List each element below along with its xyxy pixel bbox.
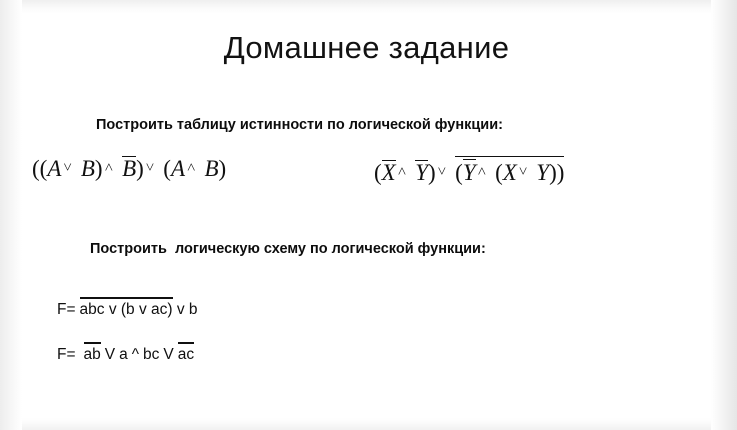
operator-and: ˄ (103, 160, 115, 176)
term-bc: bc (143, 346, 159, 363)
slide-edge-left (0, 0, 22, 430)
variable-a-2: A (171, 156, 185, 181)
operator-and-2: ˄ (185, 160, 197, 176)
variable-a: A (47, 156, 61, 181)
task-1-formula-right: (X˄Y)˅(Y˄(X˅Y)) (374, 156, 564, 185)
paren-open-3: ( (495, 160, 503, 185)
term-ab-negated: ab (84, 342, 101, 363)
paren-open: ( (374, 160, 382, 185)
operator-or-1: V (105, 346, 115, 363)
variable-y-negated: Y (415, 160, 428, 185)
slide-edge-bottom (0, 418, 737, 430)
operator-or: ˅ (436, 164, 448, 180)
operator-or-2: V (163, 346, 173, 363)
operator-or-2: ˅ (517, 164, 529, 180)
task-2-heading: Построить логическую схему по логической… (90, 241, 486, 257)
variable-b-2: B (204, 156, 218, 181)
operator-and-2: ˄ (476, 164, 488, 180)
operator-or-2: ˅ (144, 160, 156, 176)
paren-close-2: ) (136, 156, 144, 181)
negated-expression: abc v (b v ac) (80, 297, 173, 318)
paren-open-double: (( (32, 156, 47, 181)
variable-y: Y (536, 160, 549, 185)
variable-b-negated: B (122, 156, 136, 181)
task-1-formula-left: ((A˅B)˄B)˅(A˄B) (32, 156, 226, 181)
function-tail: v b (173, 301, 198, 318)
operator-or: ˅ (61, 160, 73, 176)
paren-open: ( (163, 156, 171, 181)
variable-y-double-negated: Y (463, 159, 476, 185)
task-2-function-1: F=abc v (b v ac) v b (57, 297, 198, 318)
paren-close-3: ) (219, 156, 227, 181)
variable-x-negated: X (382, 160, 396, 185)
variable-x: X (503, 160, 517, 185)
task-1-heading: Построить таблицу истинности по логическ… (96, 117, 503, 133)
paren-close: ) (428, 160, 436, 185)
term-a: a (119, 346, 128, 363)
negated-group: (Y˄(X˅Y)) (455, 156, 564, 185)
slide-edge-top (0, 0, 737, 14)
paren-close: ) (95, 156, 103, 181)
function-label: F= (57, 346, 76, 363)
operator-and: ˄ (396, 164, 408, 180)
slide-content-area: Домашнее задание Построить таблицу истин… (22, 14, 711, 418)
term-ac-negated: ac (178, 342, 194, 363)
slide-edge-right (711, 0, 737, 430)
variable-b: B (81, 156, 95, 181)
operator-and: ^ (132, 346, 139, 363)
paren-close-double: )) (549, 160, 564, 185)
paren-open-2: ( (455, 160, 463, 185)
slide-frame: Домашнее задание Построить таблицу истин… (0, 0, 737, 430)
slide-title: Домашнее задание (22, 30, 711, 66)
function-label: F= (57, 301, 76, 318)
task-2-function-2: F=abVa^bcVac (57, 342, 194, 363)
